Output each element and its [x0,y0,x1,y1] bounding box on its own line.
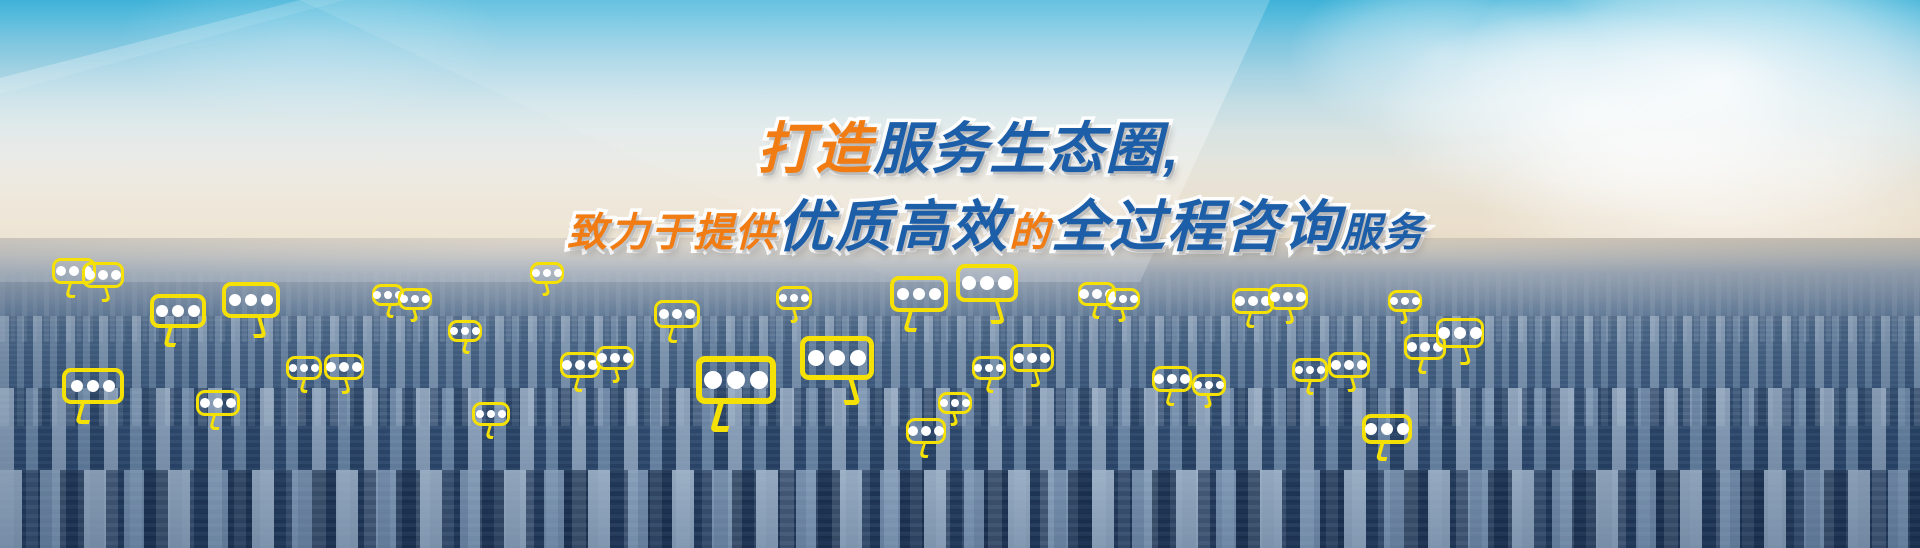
speech-bubble-icon [654,300,700,328]
speech-bubble-dot [779,294,787,302]
speech-bubble-dot [575,360,585,370]
speech-bubble-icon [286,356,322,380]
speech-bubble-dot [962,276,976,290]
speech-bubble-dot [1130,295,1138,303]
speech-bubble-icon [890,276,948,312]
speech-bubble-icon [696,356,776,404]
speech-bubble-dot [940,399,948,407]
speech-bubble-dot [352,362,362,372]
speech-bubble-dot [103,380,115,392]
speech-bubble-dot [1079,289,1089,299]
speech-bubble-icon [906,418,946,444]
speech-bubble-icon [398,288,432,310]
speech-bubble-dot [1180,374,1190,384]
speech-bubble-dot [1027,353,1037,363]
speech-bubble-icon [82,262,124,288]
speech-bubble-dot [704,371,722,389]
speech-bubble-icon [800,336,874,380]
speech-bubble-dot [921,426,931,436]
speech-bubble-icon [1292,358,1328,382]
speech-bubble-dot [980,276,994,290]
speech-bubble-dot [1454,327,1466,339]
speech-bubble-dot [422,295,430,303]
speech-bubble-icon [776,286,812,310]
speech-bubble-dot [1357,360,1367,370]
speech-bubble-dot [790,294,798,302]
speech-bubble-icon [1192,374,1226,396]
speech-bubble-icon [1328,352,1370,378]
speech-bubble-icon [972,356,1006,380]
speech-bubble-dot [400,295,408,303]
speech-bubble-dot [1296,292,1306,302]
speech-bubble-dot [1331,360,1341,370]
speech-bubble-dot [1167,374,1177,384]
speech-bubble-dot [1235,296,1245,306]
speech-bubble-dot [326,362,336,372]
speech-bubble-dot [951,399,959,407]
speech-bubble-dot [487,410,495,418]
speech-bubble-icon [1152,366,1192,392]
speech-bubble-dot [974,364,982,372]
speech-bubble-dot [532,269,540,277]
speech-bubble-dot [1397,423,1409,435]
speech-bubble-icon [1436,318,1484,348]
speech-bubble-dot [188,305,200,317]
speech-bubble-dot [1365,423,1377,435]
speech-bubble-dot [685,309,695,319]
speech-bubble-dot [1108,295,1116,303]
speech-bubble-dot [373,291,381,299]
speech-bubble-dot [1381,423,1393,435]
speech-bubble-dot [1270,292,1280,302]
speech-bubble-icon [472,402,510,426]
speech-bubble-dot [172,305,184,317]
speech-bubble-dot [1154,374,1164,384]
speech-bubble-dot [962,399,970,407]
speech-bubble-dot [1014,353,1024,363]
speech-bubble-dot [229,294,241,306]
speech-bubble-dot [56,266,66,276]
speech-bubble-dot [498,410,506,418]
speech-bubble-dot [1205,381,1213,389]
speech-bubble-dot [1119,295,1127,303]
speech-bubble-dot [71,380,83,392]
speech-bubble-icon [1388,290,1422,312]
speech-bubble-dot [1407,342,1417,352]
speech-bubble-dot [562,360,572,370]
speech-bubble-dot [801,294,809,302]
speech-bubble-dot [1283,292,1293,302]
speech-bubble-dot [200,398,210,408]
speech-bubble-icon [62,368,124,404]
speech-bubble-dot [672,309,682,319]
speech-bubble-dot [1194,381,1202,389]
speech-bubble-dot [98,270,108,280]
speech-bubble-icon [324,354,364,380]
speech-bubble-icon [530,262,564,284]
speech-bubble-dot [998,276,1012,290]
speech-bubble-dot [1438,327,1450,339]
speech-bubble-dot [829,350,845,366]
speech-bubble-dot [985,364,993,372]
speech-bubble-icon [1268,284,1308,310]
speech-bubble-dot [543,269,551,277]
speech-bubble-icon [1362,414,1412,444]
speech-bubble-dot [750,371,768,389]
speech-bubble-dot [411,295,419,303]
speech-bubble-dot [69,266,79,276]
speech-bubble-dot [929,288,941,300]
speech-bubble-dot [261,294,273,306]
speech-bubble-icon [196,390,240,416]
speech-bubble-dot [1344,360,1354,370]
speech-bubble-dot [908,426,918,436]
speech-bubble-icon [956,264,1018,302]
speech-bubble-dot [913,288,925,300]
speech-bubble-dot [476,410,484,418]
speech-bubble-icon [1106,288,1140,310]
speech-bubble-dot [1470,327,1482,339]
speech-bubble-dot [1420,342,1430,352]
speech-bubble-dot [659,309,669,319]
speech-bubble-icon [150,294,206,328]
speech-bubble-dot [727,371,745,389]
speech-bubble-dot [934,426,944,436]
speech-bubble-dot [850,350,866,366]
speech-bubble-dot [384,291,392,299]
speech-bubble-dot [623,353,633,363]
speech-bubble-dot [300,364,308,372]
speech-bubble-dot [1317,366,1325,374]
speech-bubble-icon [222,282,280,318]
speech-bubble-dot [1295,366,1303,374]
speech-bubble-dot [311,364,319,372]
speech-bubble-dot [1248,296,1258,306]
speech-bubble-icon [1010,344,1054,372]
speech-bubble-dot [996,364,1004,372]
speech-bubble-dot [213,398,223,408]
speech-bubble-dot [808,350,824,366]
hero-banner: 打造服务生态圈, 致力于提供优质高效的全过程咨询服务 [0,0,1920,548]
speech-bubble-dot [1401,297,1409,305]
speech-bubble-dot [339,362,349,372]
speech-bubble-dot [85,270,95,280]
speech-bubble-dot [156,305,168,317]
speech-bubble-dot [897,288,909,300]
speech-bubble-dot [111,270,121,280]
speech-bubble-icon [938,392,972,414]
speech-bubble-dot [1390,297,1398,305]
speech-bubble-dot [1092,289,1102,299]
speech-bubble-icon [560,352,600,378]
speech-bubble-icon [596,346,634,370]
speech-bubble-dot [1040,353,1050,363]
speech-bubble-dot [226,398,236,408]
speech-bubble-dot [554,269,562,277]
speech-bubble-dot [450,327,458,335]
speech-bubble-dot [610,353,620,363]
speech-bubble-dot [597,353,607,363]
speech-bubble-dot [289,364,297,372]
speech-bubble-dot [1412,297,1420,305]
speech-bubble-dot [87,380,99,392]
speech-bubble-dot [461,327,469,335]
speech-bubble-dot [472,327,480,335]
speech-bubble-icon [448,320,482,342]
speech-bubble-dot [245,294,257,306]
speech-bubble-dot [1306,366,1314,374]
speech-bubble-dot [1216,381,1224,389]
